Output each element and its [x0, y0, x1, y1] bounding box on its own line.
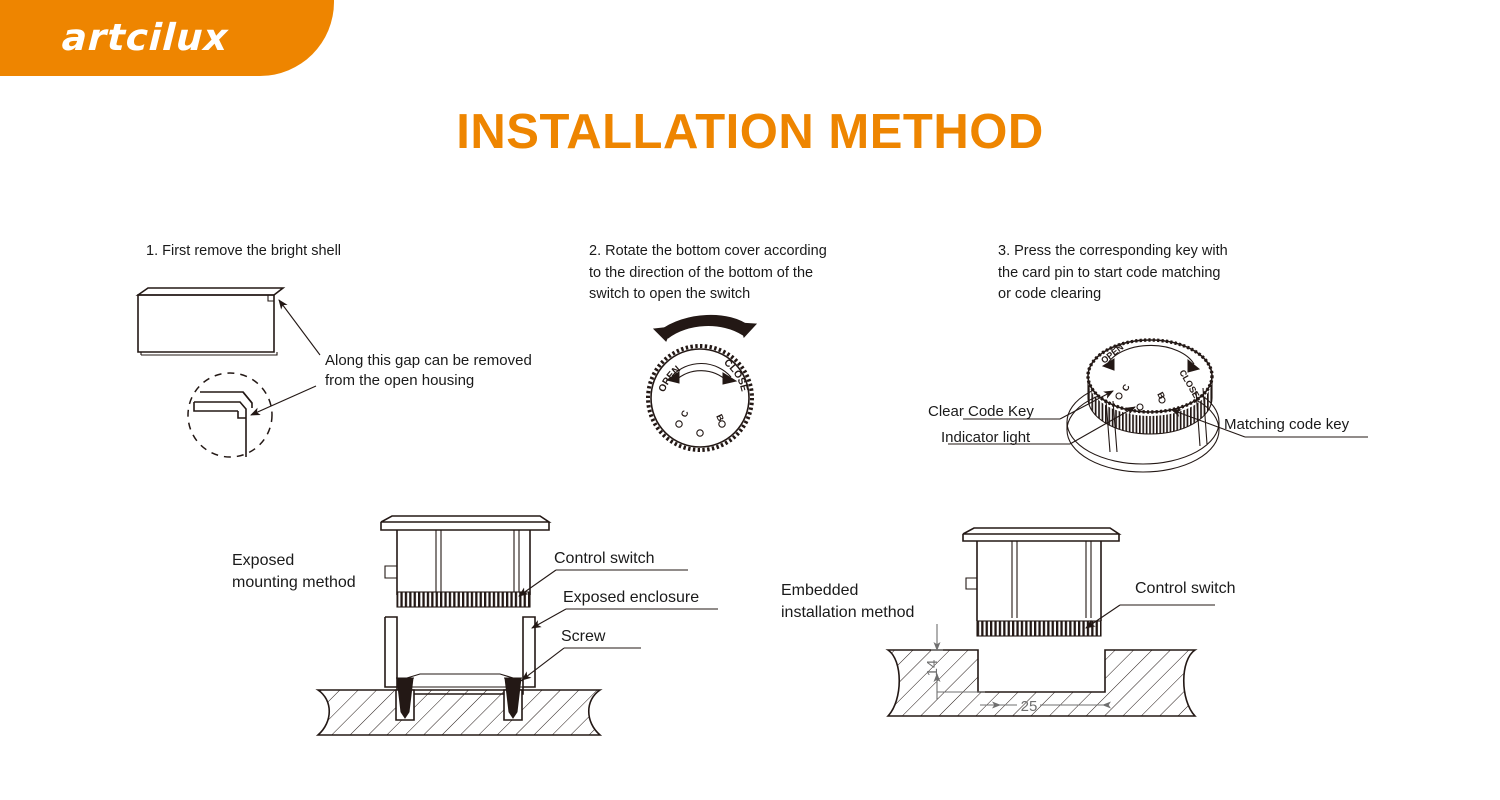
step-1-text: 1. First remove the bright shell: [146, 241, 566, 263]
page-title: INSTALLATION METHOD: [0, 104, 1500, 160]
step-1-callout: Along this gap can be removed from the o…: [325, 351, 595, 391]
svg-text:B: B: [1155, 390, 1167, 401]
brand-banner: artcilux: [0, 0, 334, 76]
exposed-enclosure-label: Exposed enclosure: [563, 587, 699, 609]
embedded-control-switch-label: Control switch: [1135, 578, 1235, 600]
screw-label: Screw: [561, 626, 605, 648]
brand-logo: artcilux: [61, 17, 230, 59]
step2-knob: OPEN CLOSE C B: [648, 315, 756, 450]
svg-text:C: C: [1120, 382, 1132, 393]
step3-knob-perspective: OPEN CLOSE C B: [1067, 340, 1219, 472]
indicator-light-label: Indicator light: [941, 428, 1030, 448]
step-3-text: 3. Press the corresponding key with the …: [998, 241, 1298, 306]
step1-housing-box: [138, 288, 283, 355]
embedded-method-label: Embedded installation method: [781, 580, 971, 624]
exposed-method-label: Exposed mounting method: [232, 550, 412, 594]
step-2-text: 2. Rotate the bottom cover according to …: [589, 241, 899, 306]
clear-code-key-label: Clear Code Key: [928, 402, 1034, 422]
step1-detail-circle: [188, 373, 272, 457]
embedded-leaders: [1086, 605, 1215, 628]
svg-text:B: B: [714, 413, 726, 424]
embedded-dimensions: 14 25: [924, 624, 1103, 715]
svg-text:OPEN: OPEN: [1099, 342, 1125, 366]
svg-text:CLOSE: CLOSE: [1177, 368, 1201, 400]
dim-depth-value: 14: [924, 660, 941, 677]
knob-close-text: CLOSE: [722, 357, 750, 393]
step1-arrow-top: [279, 300, 320, 355]
matching-code-key-label: Matching code key: [1224, 415, 1349, 435]
installation-method-page: artcilux INSTALLATION METHOD 1. First re…: [0, 0, 1500, 800]
dim-width-value: 25: [1021, 698, 1038, 715]
knob-open-text: OPEN: [657, 364, 683, 394]
step1-arrow-detail: [251, 386, 316, 415]
svg-text:C: C: [679, 408, 691, 419]
exposed-control-switch-label: Control switch: [554, 548, 654, 570]
